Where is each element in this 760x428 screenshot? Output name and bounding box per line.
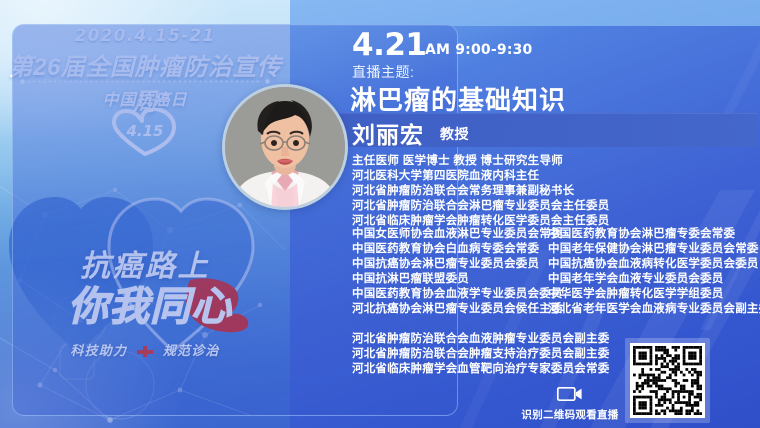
video-camera-icon bbox=[557, 387, 583, 401]
credential-line: 中国抗癌协会血液病转化医学委员会委员 bbox=[548, 255, 752, 271]
topic-title: 淋巴瘤的基础知识 bbox=[350, 80, 566, 117]
credential-line: 河北省肿瘤防治联合会常务理事兼副秘书长 bbox=[352, 182, 574, 198]
credential-line: 河北省肿瘤防治联合会肿瘤支持治疗委员会副主委 bbox=[352, 345, 609, 360]
speaker-rank: 教授 bbox=[440, 124, 469, 144]
speaker-portrait bbox=[222, 84, 348, 210]
credential-row: 河北抗癌协会淋巴瘤专业委员会侯任主委河北省老年医学会血液病专业委员会副主委 bbox=[352, 300, 752, 315]
live-time: AM 9:00-9:30 bbox=[425, 42, 533, 58]
credential-row: 中国医药教育协会血液学专业委员会委员中华医学会肿瘤转化医学学组委员 bbox=[352, 285, 752, 300]
credentials-two-column: 中国女医师协会血液淋巴专业委员会常委中国医药教育协会淋巴瘤专委会常委中国医药教育… bbox=[352, 225, 752, 315]
credential-line: 中国老年保健协会淋巴瘤专业委员会常委 bbox=[548, 240, 752, 256]
qr-code-icon[interactable] bbox=[633, 346, 702, 415]
credential-row: 中国医药教育协会白血病专委会常委中国老年保健协会淋巴瘤专业委员会常委 bbox=[352, 240, 752, 255]
credential-line: 河北医科大学第四医院血液内科主任 bbox=[352, 167, 539, 183]
topic-label: 直播主题: bbox=[352, 62, 414, 82]
speaker-name: 刘丽宏 bbox=[352, 116, 424, 150]
credential-line: 中国抗癌协会淋巴瘤专业委员会委员 bbox=[352, 255, 548, 271]
poster-root: 2020.4.15-21 第26届全国肿瘤防治宣传周 中国抗癌日 4.15 抗癌… bbox=[0, 0, 760, 428]
credential-line: 河北省肿瘤防治联合会淋巴瘤专业委员会主任委员 bbox=[352, 197, 609, 213]
credential-line: 中国医药教育协会血液学专业委员会委员 bbox=[352, 285, 548, 301]
credential-line: 中国女医师协会血液淋巴专业委员会常委 bbox=[352, 225, 548, 241]
credential-line: 河北抗癌协会淋巴瘤专业委员会侯任主委 bbox=[352, 300, 548, 316]
watch-live-label: 识别二维码观看直播 bbox=[518, 407, 622, 422]
credential-line: 河北省老年医学会血液病专业委员会副主委 bbox=[548, 300, 752, 316]
credential-line: 河北省临床肿瘤学会血管靶向治疗专家委员会常委 bbox=[352, 360, 609, 375]
speaker-portrait-image bbox=[225, 87, 345, 207]
credential-row: 中国女医师协会血液淋巴专业委员会常委中国医药教育协会淋巴瘤专委会常委 bbox=[352, 225, 752, 240]
live-date: 4.21 bbox=[352, 30, 427, 61]
credentials-tail: 河北省肿瘤防治联合会血液肿瘤专业委员会副主委河北省肿瘤防治联合会肿瘤支持治疗委员… bbox=[352, 330, 609, 375]
qr-code-frame bbox=[625, 338, 710, 423]
credential-line: 河北省肿瘤防治联合会血液肿瘤专业委员会副主委 bbox=[352, 330, 609, 345]
credential-line: 中国老年学会血液专业委员会委员 bbox=[548, 270, 752, 286]
credential-line: 中国医药教育协会白血病专委会常委 bbox=[352, 240, 548, 256]
qr-code-inner bbox=[630, 343, 705, 418]
credential-line: 中国抗淋巴瘤联盟委员 bbox=[352, 270, 548, 286]
credential-line: 中国医药教育协会淋巴瘤专委会常委 bbox=[548, 225, 752, 241]
watch-live-hint: 识别二维码观看直播 bbox=[518, 387, 622, 419]
speaker-titles: 主任医师 医学博士 教授 博士研究生导师 bbox=[352, 152, 563, 168]
credential-row: 中国抗淋巴瘤联盟委员中国老年学会血液专业委员会委员 bbox=[352, 270, 752, 285]
credential-row: 中国抗癌协会淋巴瘤专业委员会委员中国抗癌协会血液病转化医学委员会委员 bbox=[352, 255, 752, 270]
credential-line: 中华医学会肿瘤转化医学学组委员 bbox=[548, 285, 752, 301]
